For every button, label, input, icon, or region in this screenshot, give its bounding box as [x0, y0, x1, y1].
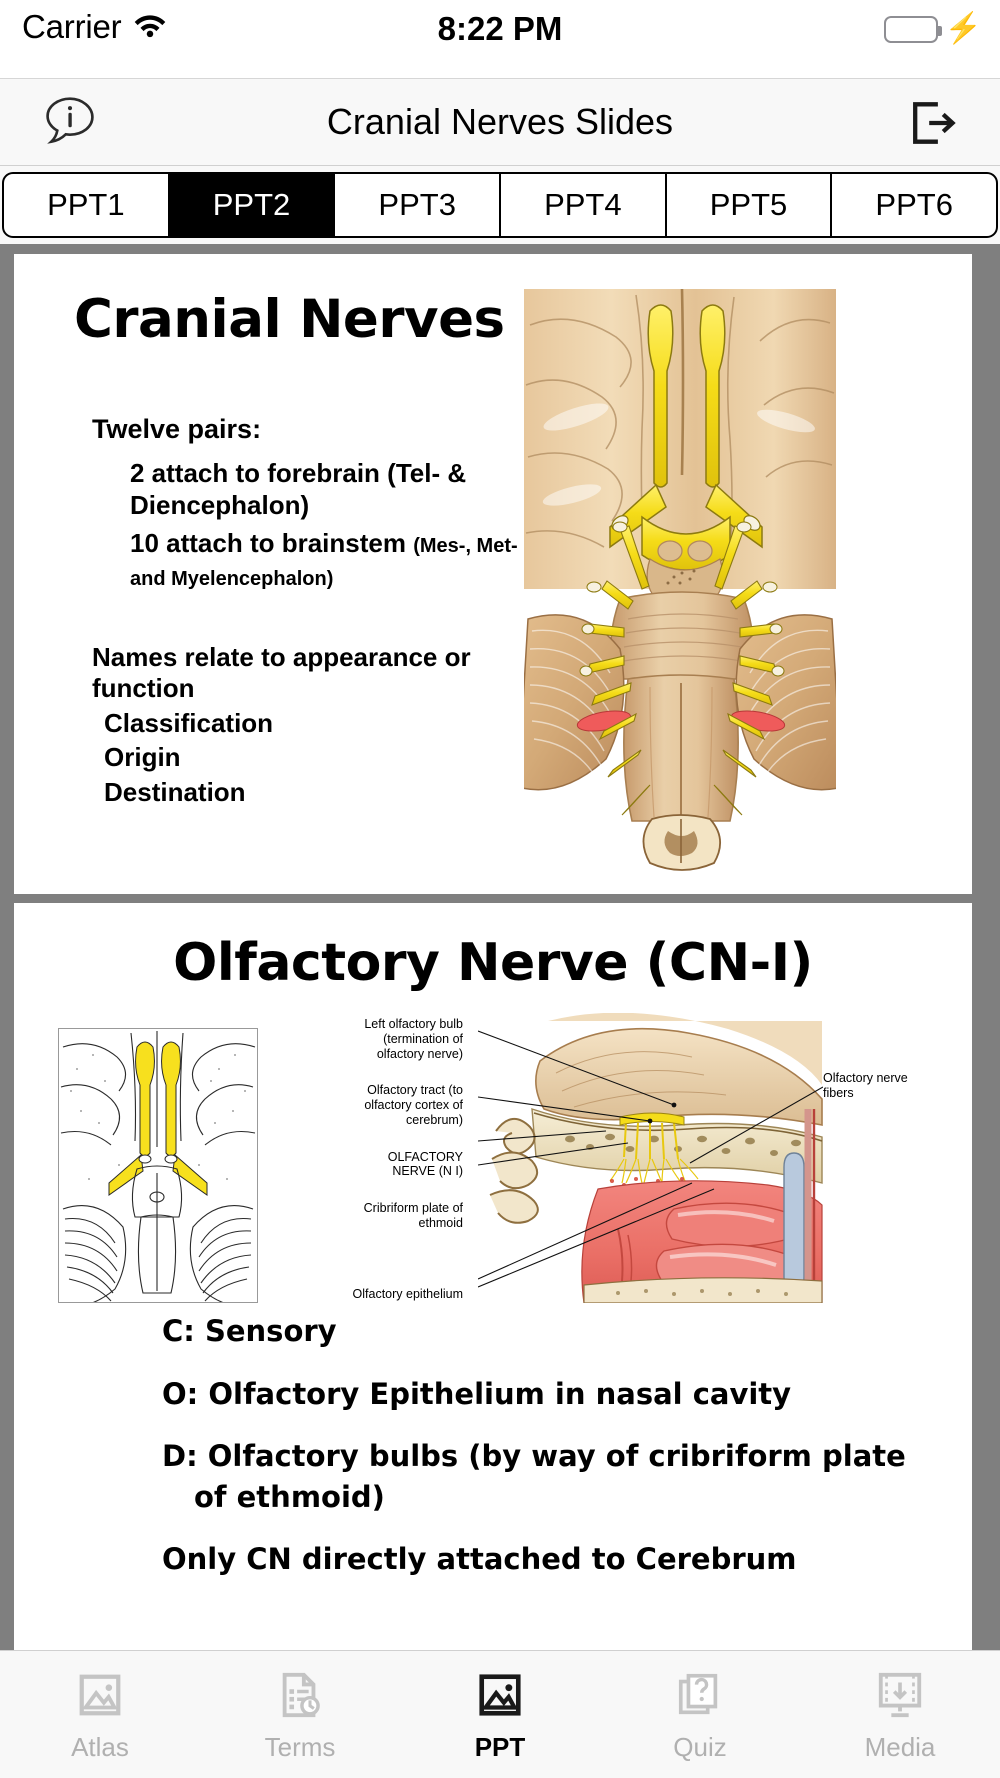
question-papers-icon [671, 1666, 729, 1724]
tab-terms[interactable]: Terms [200, 1651, 400, 1778]
monitor-download-icon [871, 1666, 929, 1724]
slide1-sub2: 10 attach to brainstem (Mes-, Met- and M… [130, 527, 532, 591]
status-bar: Carrier 8:22 PM ⚡ [0, 0, 1000, 78]
ventral-brain-lineart-inset [58, 1028, 258, 1303]
figure-label-olfactory-nerve: OLFACTORY NERVE (N I) [343, 1150, 463, 1180]
slide2-bullet-only-cn: Only CN directly attached to Cerebrum [162, 1539, 952, 1580]
figure-label-left-olfactory-bulb: Left olfactory bulb (termination of olfa… [343, 1017, 463, 1061]
slides-scroll-area[interactable]: Cranial Nerves Twelve pairs: 2 attach to… [0, 244, 1000, 1678]
status-bar-time: 8:22 PM [0, 10, 1000, 48]
figure-label-olfactory-epithelium: Olfactory epithelium [343, 1287, 463, 1302]
tab-quiz[interactable]: Quiz [600, 1651, 800, 1778]
tab-label-ppt: PPT [475, 1732, 526, 1763]
slide1-item-classification: Classification [104, 706, 532, 740]
page-title: Cranial Nerves Slides [327, 101, 673, 143]
slide1-sub2-bold: 10 attach to brainstem [130, 528, 406, 558]
slide2-bullet-d: D: Olfactory bulbs (by way of cribriform… [162, 1436, 952, 1477]
figure-label-cribriform-plate: Cribriform plate of ethmoid [343, 1201, 463, 1231]
tab-label-terms: Terms [265, 1732, 336, 1763]
photo-image-icon [71, 1666, 129, 1724]
tab-ppt[interactable]: PPT [400, 1651, 600, 1778]
slide1-sub1-bold: 2 attach to forebrain [130, 458, 380, 488]
slide2-bullets: C: Sensory O: Olfactory Epithelium in na… [162, 1311, 952, 1580]
slide1-title: Cranial Nerves [74, 289, 505, 350]
status-bar-right: ⚡ [884, 14, 982, 44]
segment-ppt6[interactable]: PPT6 [831, 172, 998, 238]
slide1-item-origin: Origin [104, 740, 532, 774]
slide2-bullet-c: C: Sensory [162, 1311, 952, 1352]
slide-card-1[interactable]: Cranial Nerves Twelve pairs: 2 attach to… [14, 254, 972, 894]
figure-callout-labels: Left olfactory bulb (termination of olfa… [343, 1013, 463, 1301]
document-clock-icon [271, 1666, 329, 1724]
lightning-bolt-icon: ⚡ [945, 14, 982, 44]
segment-ppt5[interactable]: PPT5 [666, 172, 832, 238]
exit-logout-icon[interactable] [902, 93, 962, 153]
info-bubble-icon[interactable] [38, 91, 102, 155]
segment-ppt4[interactable]: PPT4 [500, 172, 666, 238]
battery-full-icon [884, 16, 938, 43]
app-screen: Carrier 8:22 PM ⚡ Cran [0, 0, 1000, 1778]
olfactory-nerve-figure: Left olfactory bulb (termination of olfa… [58, 1013, 838, 1303]
segment-ppt3[interactable]: PPT3 [334, 172, 500, 238]
figure-label-olfactory-tract: Olfactory tract (to olfactory cortex of … [343, 1083, 463, 1127]
photo-image-icon [471, 1666, 529, 1724]
slide1-heading2: Names relate to appearance or function [92, 642, 532, 704]
ventral-brain-illustration [524, 289, 836, 879]
bottom-tab-bar[interactable]: Atlas Terms [0, 1650, 1000, 1778]
tab-media[interactable]: Media [800, 1651, 1000, 1778]
sagittal-nasal-cavity-illustration [478, 1013, 823, 1303]
slide-card-2[interactable]: Olfactory Nerve (CN-I) [14, 903, 972, 1678]
slide1-body: Twelve pairs: 2 attach to forebrain (Tel… [92, 414, 532, 809]
tab-label-media: Media [865, 1732, 936, 1763]
slide2-bullet-o: O: Olfactory Epithelium in nasal cavity [162, 1374, 952, 1415]
slide1-sub1: 2 attach to forebrain (Tel- & Diencephal… [130, 457, 532, 521]
figure-label-olfactory-nerve-fibers: Olfactory nerve fibers [823, 1071, 913, 1101]
tab-label-atlas: Atlas [71, 1732, 129, 1763]
slide2-title: Olfactory Nerve (CN-I) [14, 933, 972, 993]
segment-ppt1[interactable]: PPT1 [2, 172, 169, 238]
tab-atlas[interactable]: Atlas [0, 1651, 200, 1778]
navigation-bar: Cranial Nerves Slides [0, 78, 1000, 166]
slide1-heading: Twelve pairs: [92, 414, 532, 445]
ppt-segmented-control[interactable]: PPT1 PPT2 PPT3 PPT4 PPT5 PPT6 [0, 166, 1000, 244]
segment-ppt2[interactable]: PPT2 [169, 172, 335, 238]
tab-label-quiz: Quiz [673, 1732, 726, 1763]
slide2-bullet-d-cont: of ethmoid) [194, 1477, 952, 1518]
slide1-item-destination: Destination [104, 775, 532, 809]
